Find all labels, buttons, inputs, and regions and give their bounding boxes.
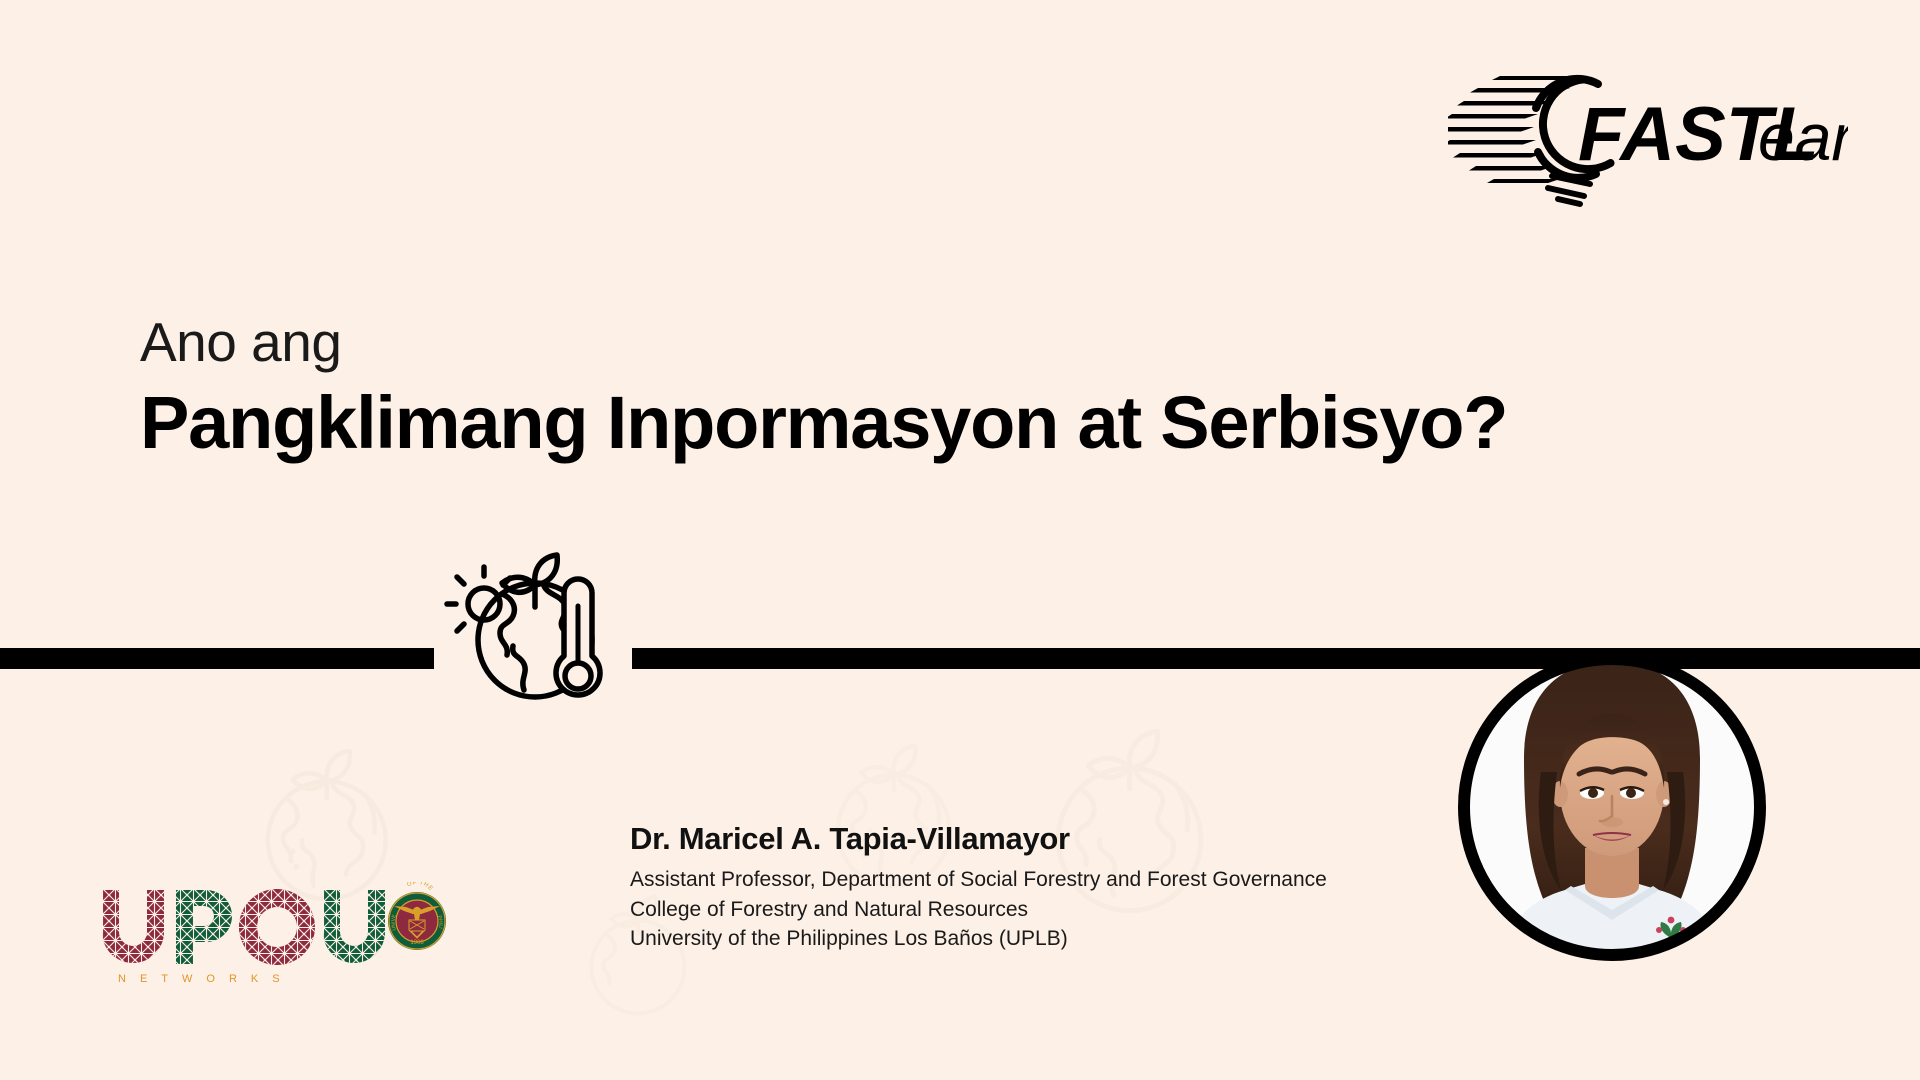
title-kicker: Ano ang [140,315,1640,370]
up-seal-year: 1908 [410,940,424,946]
eye-left [1588,788,1598,798]
speaker-affiliation-line: University of the Philippines Los Baños … [630,924,1390,954]
avatar [1457,652,1767,962]
upou-subtitle: NETWORKS [118,973,294,985]
title-main: Pangklimang Inpormasyon at Serbisyo? [140,384,1640,462]
eye-right [1626,788,1636,798]
upou-letter-u1 [102,890,164,963]
upou-letter-o [239,889,315,965]
svg-text:OF THE: OF THE [406,882,434,892]
slide-canvas: FASTL earn Ano ang Pangklimang Inpormasy… [0,0,1920,1080]
speaker-info: Dr. Maricel A. Tapia-Villamayor Assistan… [630,820,1390,954]
earring [1663,799,1669,805]
divider-bar-left [0,648,434,669]
thermometer-icon [556,579,600,695]
upou-letter-p [176,890,232,964]
speaker-name: Dr. Maricel A. Tapia-Villamayor [630,820,1390,859]
globe-plant-thermometer-icon [440,530,630,720]
speaker-affiliation-line: Assistant Professor, Department of Socia… [630,865,1390,895]
upou-letter-u2 [323,890,385,963]
page-title: Ano ang Pangklimang Inpormasyon at Serbi… [140,315,1640,462]
fastlearn-logo: FASTL earn [1448,48,1848,208]
up-seal-ring-top: OF THE [406,882,434,892]
upou-networks-logo: NETWORKS OF THE UNIVERSITY PHILIPPINES [96,882,446,992]
speaker-affiliation-line: College of Forestry and Natural Resource… [630,895,1390,925]
up-seal: OF THE UNIVERSITY PHILIPPINES [386,882,446,950]
fastlearn-wordmark-light: earn [1758,100,1848,174]
